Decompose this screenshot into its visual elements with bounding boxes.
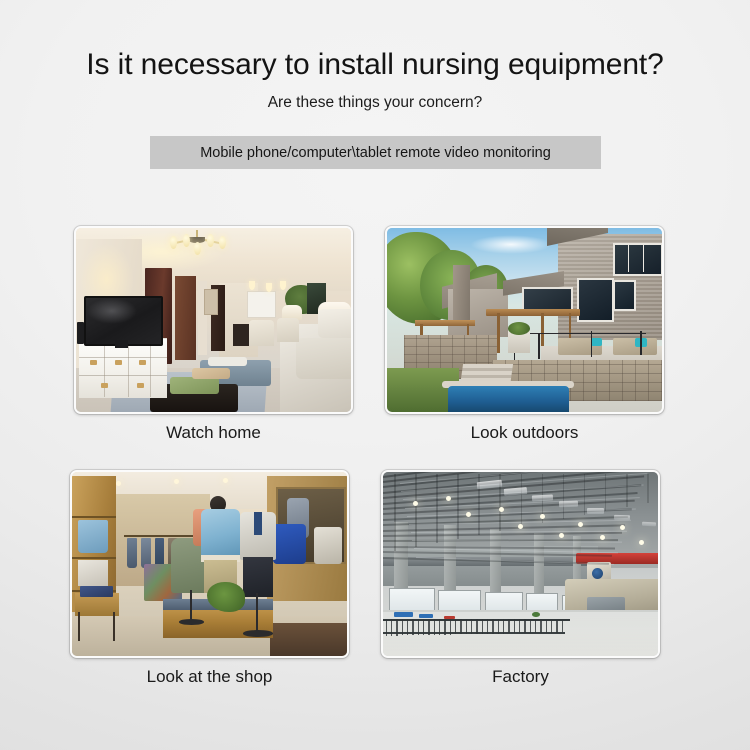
- photo-living-room: [74, 226, 353, 414]
- photo-caption: Look outdoors: [385, 422, 664, 444]
- roof-truss-line: [460, 619, 461, 634]
- roof-truss-line: [471, 619, 472, 634]
- roof-truss-line: [402, 619, 403, 635]
- roof-truss-line: [457, 474, 459, 539]
- photo-grid: Watch home: [0, 0, 750, 750]
- roof-truss-line: [600, 535, 605, 540]
- roof-truss-line: [499, 507, 504, 512]
- roof-truss-line: [466, 619, 467, 634]
- roof-truss-line: [587, 508, 604, 513]
- roof-truss-line: [559, 533, 564, 538]
- roof-truss-line: [428, 619, 429, 635]
- roof-truss-line: [396, 619, 397, 635]
- roof-truss-line: [614, 515, 630, 520]
- photo-factory: [381, 470, 660, 658]
- roof-truss-line: [503, 619, 504, 633]
- roof-truss-line: [530, 620, 531, 634]
- roof-truss-line: [418, 619, 419, 635]
- roof-truss-line: [546, 620, 547, 633]
- roof-truss-line: [434, 619, 435, 635]
- gallery-item-watch-home: Watch home: [74, 226, 353, 414]
- gallery-item-factory: Factory: [381, 470, 660, 658]
- roof-truss-line: [407, 619, 408, 635]
- roof-truss-line: [492, 619, 493, 633]
- roof-truss-line: [556, 620, 557, 633]
- roof-truss-line: [391, 619, 392, 635]
- roof-truss-line: [518, 524, 523, 529]
- roof-truss-line: [439, 619, 440, 634]
- roof-truss-line: [444, 619, 445, 634]
- roof-truss-line: [562, 620, 563, 633]
- roof-truss-line: [626, 474, 628, 507]
- roof-truss-line: [476, 619, 477, 634]
- roof-truss-line: [605, 474, 607, 511]
- photo-house-exterior: [385, 226, 664, 414]
- roof-truss-line: [521, 474, 523, 527]
- roof-truss-line: [563, 474, 565, 519]
- infographic-page: Is it necessary to install nursing equip…: [0, 0, 750, 750]
- roof-truss-line: [540, 620, 541, 633]
- roof-truss-line: [394, 474, 396, 551]
- photo-caption: Factory: [381, 666, 660, 688]
- roof-truss-line: [412, 619, 413, 635]
- photo-caption: Watch home: [74, 422, 353, 444]
- roof-truss-line: [639, 540, 644, 545]
- photo-caption: Look at the shop: [70, 666, 349, 688]
- roof-truss-line: [482, 619, 483, 634]
- roof-truss-line: [535, 620, 536, 633]
- roof-truss-line: [584, 474, 586, 515]
- roof-truss-line: [498, 619, 499, 633]
- roof-truss-line: [487, 619, 488, 633]
- photo-clothing-shop: [70, 470, 349, 658]
- roof-truss-line: [559, 501, 578, 507]
- roof-truss-line: [508, 619, 509, 633]
- roof-truss-line: [519, 619, 520, 633]
- roof-truss-line: [415, 474, 417, 547]
- roof-truss-line: [450, 619, 451, 634]
- gallery-item-look-at-the-shop: Look at the shop: [70, 470, 349, 658]
- roof-truss-line: [514, 619, 515, 633]
- roof-truss-line: [620, 525, 625, 530]
- roof-truss-line: [436, 474, 438, 543]
- roof-truss-line: [423, 619, 424, 635]
- roof-truss-line: [524, 619, 525, 633]
- roof-truss-line: [386, 619, 387, 636]
- roof-truss-line: [578, 522, 583, 527]
- roof-truss-line: [531, 494, 552, 501]
- roof-truss-line: [455, 619, 456, 634]
- roof-truss-line: [647, 474, 649, 503]
- roof-truss-line: [551, 620, 552, 633]
- chandelier-icon: [170, 230, 225, 259]
- roof-truss-line: [641, 521, 655, 526]
- gallery-item-look-outdoors: Look outdoors: [385, 226, 664, 414]
